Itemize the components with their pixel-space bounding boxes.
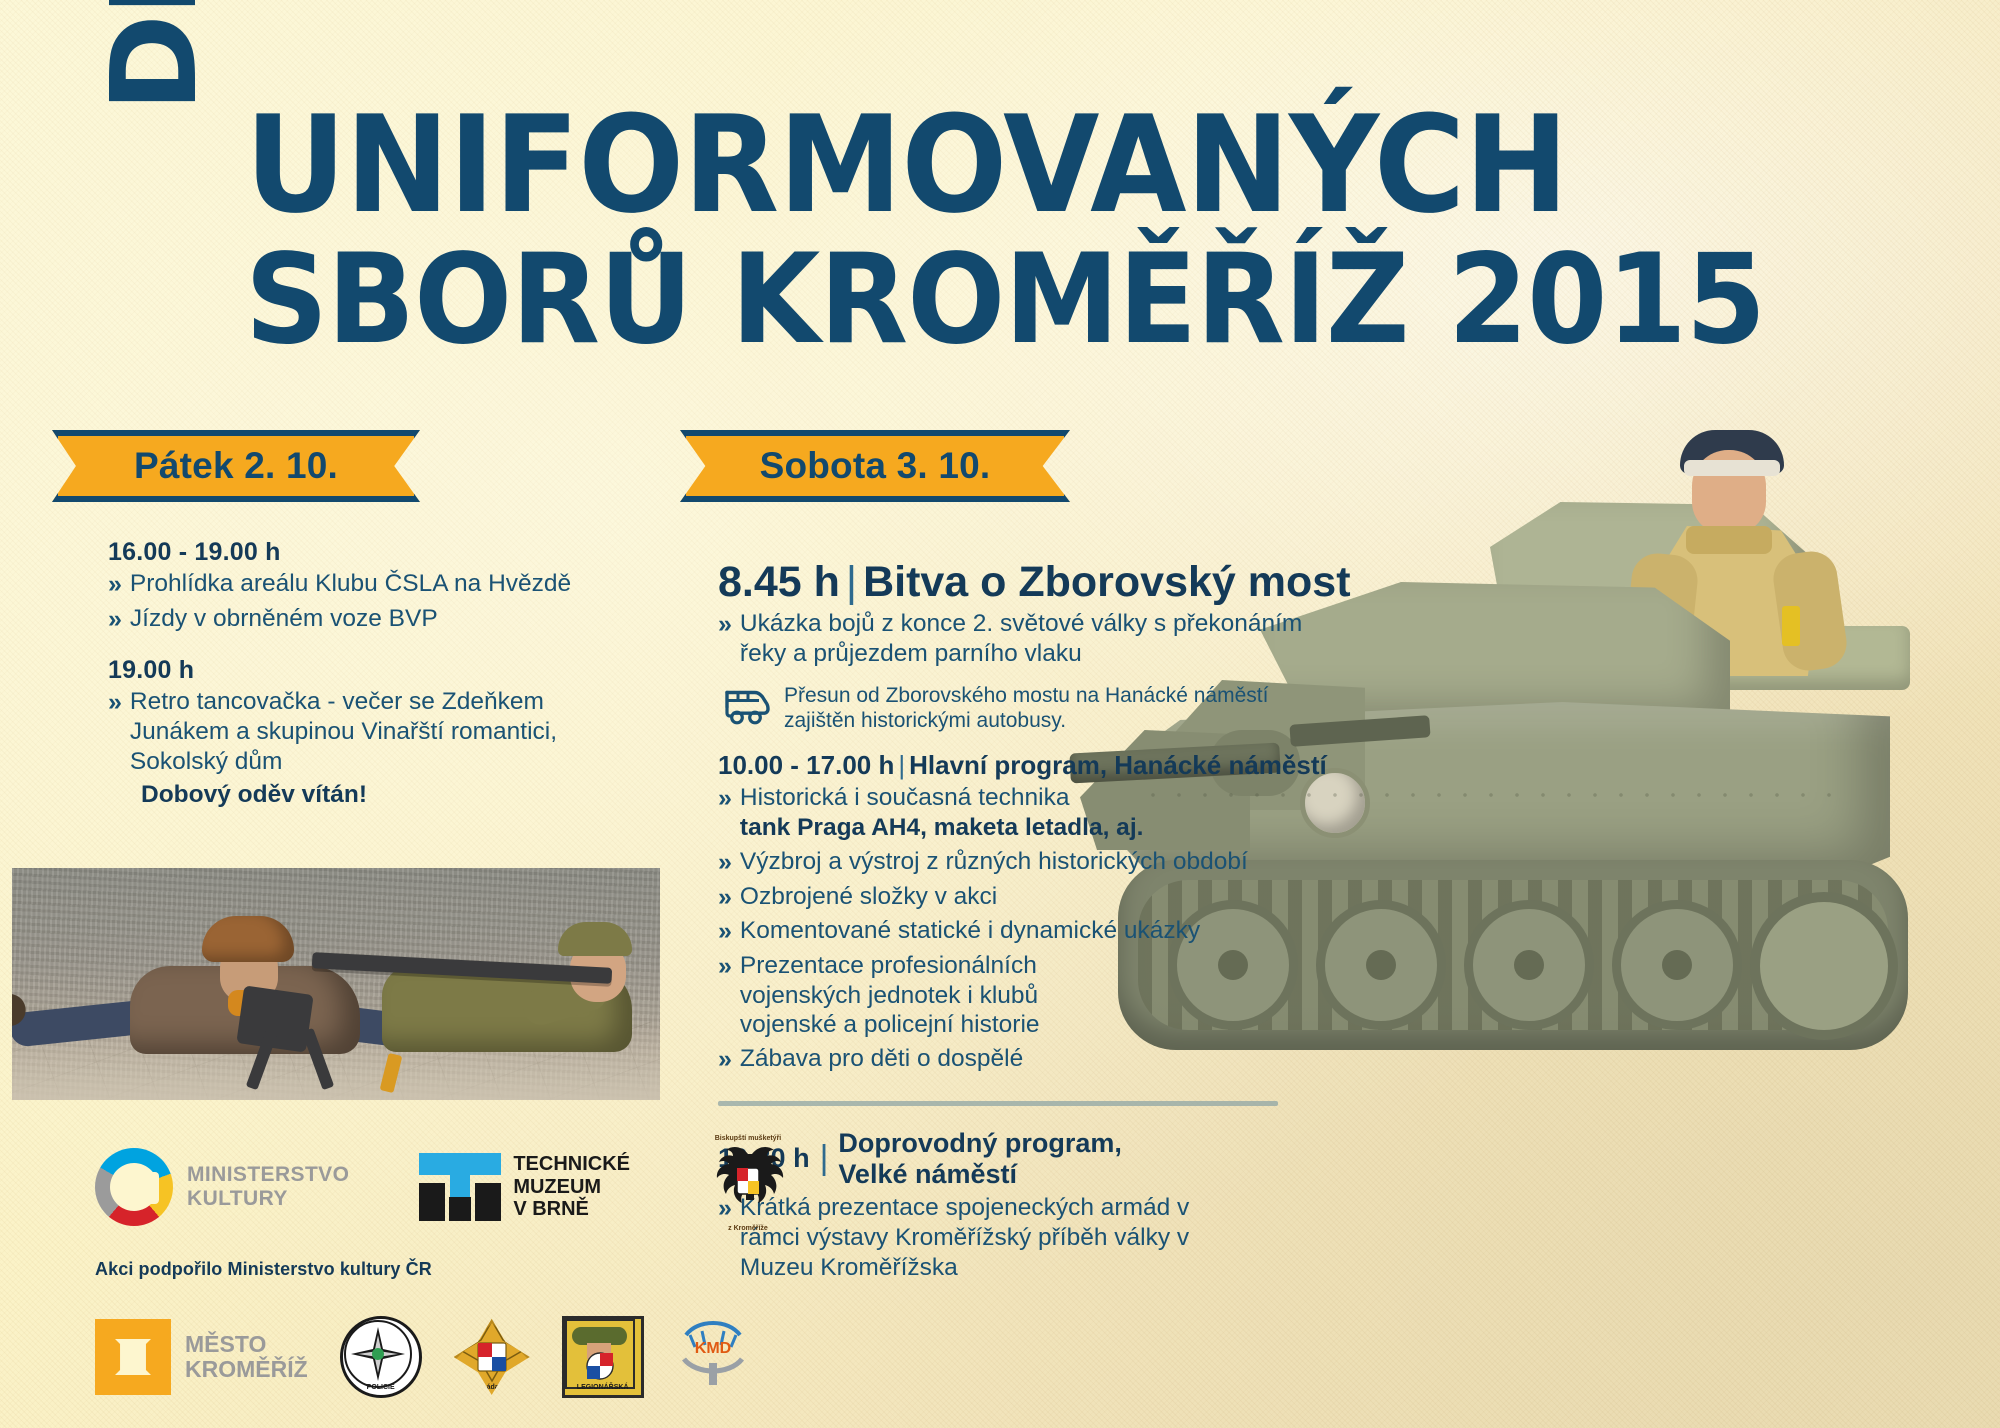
svg-text:KMD: KMD	[694, 1340, 730, 1357]
transport-line-1: Přesun od Zborovského mostu na Hanácké n…	[784, 684, 1268, 707]
technical-museum-label: TECHNICKÉ MUZEUM V BRNĚ	[513, 1153, 630, 1221]
ministry-of-culture-logo: MINISTERSTVO KULTURY	[95, 1148, 349, 1226]
army-crest-label: Armáda ČR	[454, 1384, 530, 1391]
saturday-battle-time: 8.45 h	[718, 558, 840, 606]
side-program-title-line-1: Doprovodný program,	[838, 1128, 1122, 1158]
legion-crest-logo: LEGIONÁŘSKÁ	[562, 1316, 644, 1398]
heading-separator: |	[840, 558, 863, 606]
city-of-kromeriz-icon	[95, 1319, 171, 1395]
friday-item-text: Prohlídka areálu Klubu ČSLA na Hvězdě	[130, 569, 571, 599]
main-program-title: Hlavní program, Hanácké náměstí	[909, 750, 1327, 780]
main-program-item: Prezentace profesionálních vojenských je…	[740, 951, 1040, 1041]
ministry-of-culture-label: MINISTERSTVO KULTURY	[187, 1163, 349, 1210]
main-program-item-bold: tank Praga AH4, maketa letadla, aj.	[740, 814, 1144, 841]
tmb-block	[449, 1197, 471, 1221]
archbishop-museum-top-label: Biskupští mušketýři	[700, 1135, 796, 1142]
saturday-battle-title: Bitva o Zborovský most	[863, 558, 1350, 606]
title-line-2: SBORŮ KROMĚŘÍŽ 2015	[245, 238, 1765, 362]
title-den: DEN	[85, 0, 223, 112]
chevron-bullet-icon: »	[718, 783, 732, 814]
tank-roadwheel	[1612, 900, 1742, 1030]
friday-item-text: Jízdy v obrněném voze BVP	[130, 604, 438, 634]
sponsor-logo-row-primary: MINISTERSTVO KULTURY TECHNICKÉ MUZEUM V …	[95, 1135, 655, 1239]
city-of-kromeriz-label: MĚSTO KROMĚŘÍŽ	[185, 1332, 308, 1383]
day-ribbon-saturday-label: Sobota 3. 10.	[760, 445, 991, 487]
tank-roadwheel	[1316, 900, 1446, 1030]
police-compass-star-icon	[343, 1319, 413, 1389]
main-program-item: Ozbrojené složky v akci	[740, 882, 997, 912]
list-item: » Výzbroj a výstroj z různých historický…	[718, 847, 1318, 878]
tmb-line-2: MUZEUM	[513, 1176, 601, 1198]
list-item: » Historická i současná technika tank Pr…	[718, 783, 1318, 843]
day-ribbon-friday-label: Pátek 2. 10.	[134, 445, 338, 487]
friday-dress-code-note: Dobový oděv vítán!	[141, 781, 578, 809]
friday-block-1-time: 16.00 - 19.00 h	[108, 538, 578, 567]
transport-note: Přesun od Zborovského mostu na Hanácké n…	[724, 683, 1318, 733]
chevron-bullet-icon: »	[108, 604, 122, 635]
list-item: » Komentované statické i dynamické ukázk…	[718, 916, 1318, 947]
technical-museum-icon	[419, 1153, 501, 1221]
main-program-item-text: Historická i současná technika	[740, 784, 1070, 811]
crewman-headband	[1684, 460, 1780, 476]
saturday-battle-item: Ukázka bojů z konce 2. světové války s p…	[740, 609, 1318, 669]
list-item: » Zábava pro děti o dospělé	[718, 1044, 1318, 1075]
list-item: » Jízdy v obrněném voze BVP	[108, 604, 578, 635]
list-item: » Prezentace profesionálních vojenských …	[718, 951, 1318, 1041]
saturday-program-column: 8.45 h|Bitva o Zborovský most » Ukázka b…	[718, 560, 1318, 1287]
list-item: » Retro tancovačka - večer se Zdeňkem Ju…	[108, 687, 578, 777]
tank-roadwheel	[1464, 900, 1594, 1030]
main-program-time: 10.00 - 17.00 h	[718, 750, 894, 780]
technical-museum-logo: TECHNICKÉ MUZEUM V BRNĚ	[419, 1153, 630, 1221]
city-line-2: KROMĚŘÍŽ	[185, 1356, 308, 1382]
tmb-block	[475, 1183, 501, 1221]
side-program-item: Krátká prezentace spojeneckých armád v r…	[740, 1193, 1210, 1283]
soldier-field-cap	[558, 922, 632, 956]
friday-block-2-time: 19.00 h	[108, 656, 578, 685]
main-program-item: Historická i současná technika tank Prag…	[740, 783, 1144, 843]
sponsor-logos: MINISTERSTVO KULTURY TECHNICKÉ MUZEUM V …	[95, 1135, 655, 1398]
sponsor-logo-row-secondary: MĚSTO KROMĚŘÍŽ POLICIE	[95, 1316, 655, 1398]
list-item: » Prohlídka areálu Klubu ČSLA na Hvězdě	[108, 569, 578, 600]
crewman-badge	[1782, 606, 1800, 646]
saturday-main-program-heading: 10.00 - 17.00 h|Hlavní program, Hanácké …	[718, 751, 1318, 780]
figure-flat-cap	[202, 916, 294, 962]
chevron-bullet-icon: »	[718, 1044, 732, 1075]
kmd-logo: KMD	[676, 1319, 752, 1395]
kmd-parachute-wreath-icon: KMD	[676, 1319, 750, 1389]
saturday-side-program-heading: 10.30 h | Doprovodný program, Velké námě…	[718, 1128, 1318, 1190]
city-of-kromeriz-logo: MĚSTO KROMĚŘÍŽ	[95, 1319, 308, 1395]
transport-line-2: zajištěn historickými autobusy.	[784, 709, 1066, 732]
section-divider	[718, 1101, 1278, 1106]
poster-title: DEN UNIFORMOVANÝCH SBORŮ KROMĚŘÍŽ 2015	[0, 42, 2000, 342]
transport-text: Přesun od Zborovského mostu na Hanácké n…	[784, 683, 1268, 733]
title-line-1: UNIFORMOVANÝCH	[245, 98, 1568, 232]
main-program-item: Komentované statické i dynamické ukázky	[740, 916, 1200, 946]
chevron-bullet-icon: »	[718, 609, 732, 640]
city-line-1: MĚSTO	[185, 1331, 266, 1357]
list-item: » Ukázka bojů z konce 2. světové války s…	[718, 609, 1318, 669]
saturday-battle-heading: 8.45 h|Bitva o Zborovský most	[718, 560, 1318, 605]
chevron-bullet-icon: »	[108, 687, 122, 718]
chevron-bullet-icon: »	[718, 916, 732, 947]
heading-separator: |	[894, 750, 909, 780]
day-ribbon-friday: Pátek 2. 10.	[52, 430, 420, 502]
day-ribbon-saturday: Sobota 3. 10.	[680, 430, 1070, 502]
reenactment-photo	[12, 868, 660, 1100]
legionnaire-helmet-icon	[565, 1319, 635, 1389]
legion-crest-label: LEGIONÁŘSKÁ	[565, 1384, 641, 1391]
list-item: » Krátká prezentace spojeneckých armád v…	[718, 1193, 1318, 1283]
police-crest-logo: POLICIE	[340, 1316, 422, 1398]
double-eagle-icon	[700, 1142, 796, 1220]
support-note: Akci podpořilo Ministerstvo kultury ČR	[95, 1259, 655, 1280]
ministry-line-2: KULTURY	[187, 1187, 288, 1210]
tmb-line-1: TECHNICKÉ	[513, 1153, 630, 1175]
main-program-item: Výzbroj a výstroj z různých historických…	[740, 847, 1248, 877]
friday-item-text: Retro tancovačka - večer se Zdeňkem Juná…	[130, 687, 578, 777]
chevron-bullet-icon: »	[108, 569, 122, 600]
chevron-bullet-icon: »	[718, 847, 732, 878]
list-item: » Ozbrojené složky v akci	[718, 882, 1318, 913]
ministry-of-culture-icon	[95, 1148, 173, 1226]
chevron-bullet-icon: »	[718, 951, 732, 982]
archbishop-museum-logo: Biskupští mušketýři z Kroměříže	[700, 1135, 796, 1239]
photo-machine-gun-body	[236, 985, 313, 1052]
army-crest-logo: Armáda ČR	[454, 1319, 530, 1395]
bus-icon	[724, 687, 770, 730]
main-program-item: Zábava pro děti o dospělé	[740, 1044, 1023, 1074]
ministry-line-1: MINISTERSTVO	[187, 1163, 349, 1186]
poster-canvas: DEN UNIFORMOVANÝCH SBORŮ KROMĚŘÍŽ 2015 P…	[0, 0, 2000, 1428]
crewman-collar	[1686, 526, 1772, 554]
tmb-block	[419, 1183, 445, 1221]
heading-separator: |	[810, 1139, 839, 1178]
tmb-line-3: V BRNĚ	[513, 1198, 589, 1220]
spacer	[108, 638, 578, 656]
friday-program-column: 16.00 - 19.00 h » Prohlídka areálu Klubu…	[108, 538, 578, 809]
chevron-bullet-icon: »	[718, 882, 732, 913]
side-program-title-line-2: Velké náměstí	[838, 1159, 1017, 1189]
archbishop-museum-bottom-label: z Kroměříže	[700, 1225, 796, 1232]
tank-drive-sprocket	[1750, 892, 1898, 1040]
police-crest-label: POLICIE	[343, 1384, 419, 1391]
side-program-title: Doprovodný program, Velké náměstí	[838, 1128, 1122, 1190]
